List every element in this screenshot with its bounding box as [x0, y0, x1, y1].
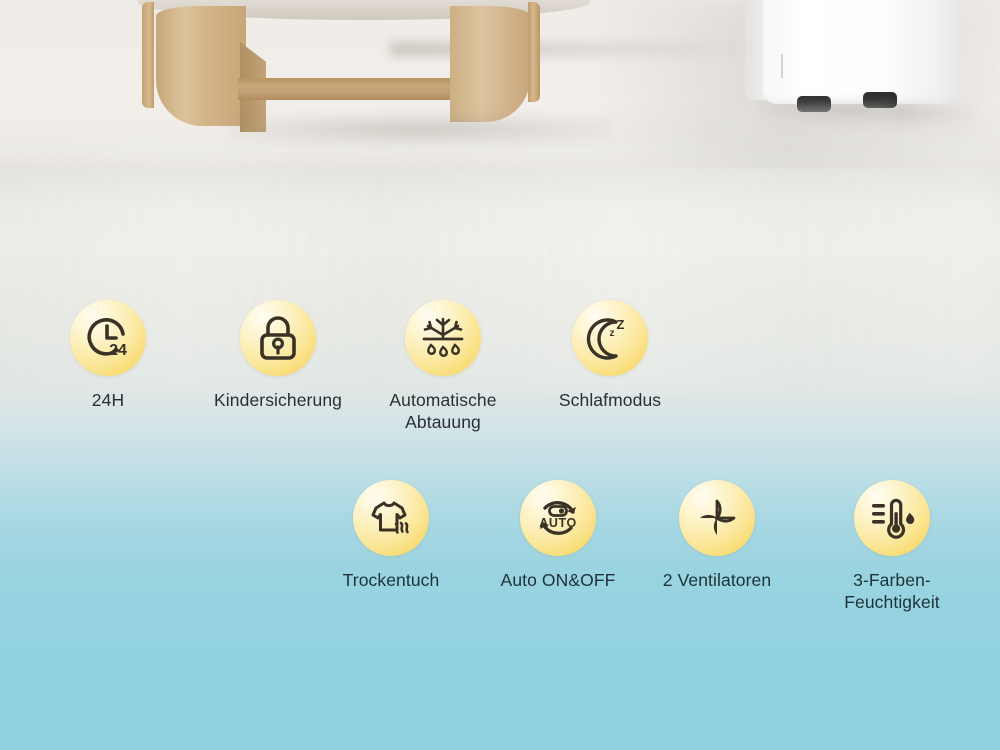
feature-item-child-lock[interactable]: Kindersicherung — [203, 300, 353, 411]
feature-item-auto-defrost[interactable]: Automatische Abtauung — [368, 300, 518, 433]
feature-badge — [679, 480, 755, 556]
feature-list: 24 24H Kindersicherung — [0, 0, 1000, 750]
feature-badge: 24 — [70, 300, 146, 376]
auto-onoff-icon: AUTO — [532, 492, 584, 544]
feature-label: Schlafmodus — [559, 389, 661, 411]
thermometer-humidity-icon — [867, 493, 917, 543]
feature-item-three-color-humidity[interactable]: 3-Farben- Feuchtigkeit — [817, 480, 967, 613]
feature-label: 24H — [92, 389, 124, 411]
auto-label: AUTO — [539, 516, 577, 530]
feature-label: Trockentuch — [343, 569, 440, 591]
feature-item-two-fans[interactable]: 2 Ventilatoren — [642, 480, 792, 591]
feature-label: 3-Farben- Feuchtigkeit — [844, 569, 940, 613]
snowflake-defrost-icon — [417, 313, 469, 363]
feature-badge: Z z — [572, 300, 648, 376]
feature-item-sleep-mode[interactable]: Z z Schlafmodus — [535, 300, 685, 411]
scene-root: 24 24H Kindersicherung — [0, 0, 1000, 750]
feature-item-auto-on-off[interactable]: AUTO Auto ON&OFF — [483, 480, 633, 591]
feature-item-laundry-dry[interactable]: Trockentuch — [316, 480, 466, 591]
feature-label: Auto ON&OFF — [501, 569, 616, 591]
feature-badge — [240, 300, 316, 376]
feature-badge: AUTO — [520, 480, 596, 556]
moon-sleep-icon: Z z — [585, 313, 635, 363]
feature-badge — [353, 480, 429, 556]
feature-badge — [854, 480, 930, 556]
feature-label: Automatische Abtauung — [389, 389, 496, 433]
clock-24-label: 24 — [109, 342, 127, 359]
feature-badge — [405, 300, 481, 376]
sleep-z-small: z — [610, 328, 615, 339]
feature-label: Kindersicherung — [214, 389, 342, 411]
feature-label: 2 Ventilatoren — [663, 569, 771, 591]
sleep-z-big: Z — [617, 317, 625, 332]
padlock-icon — [255, 314, 301, 362]
fan-pinwheel-icon — [693, 494, 741, 542]
feature-item-24h[interactable]: 24 24H — [33, 300, 183, 411]
clock-24h-icon: 24 — [83, 313, 133, 363]
tshirt-dry-icon — [366, 494, 416, 542]
